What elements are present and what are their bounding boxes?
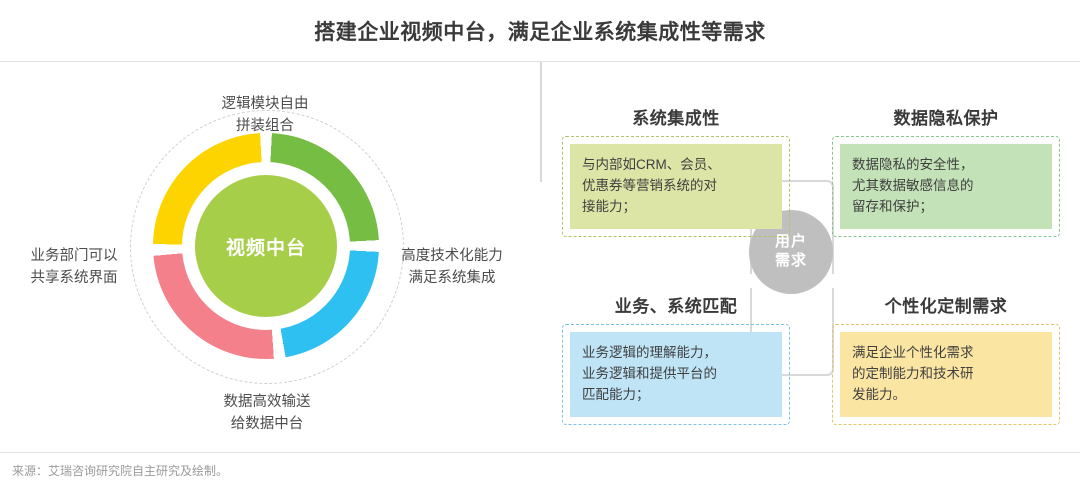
card-privacy-body: 数据隐私的安全性， 尤其数据敏感信息的 留存和保护；	[840, 144, 1052, 229]
requirements-panel: 用户 需求 系统集成性 与内部如CRM、会员、 优惠券等营销系统的对 接能力； …	[540, 62, 1080, 452]
donut-core-label: 视频中台	[226, 233, 306, 260]
card-business-match[interactable]: 业务、系统匹配 业务逻辑的理解能力， 业务逻辑和提供平台的 匹配能力；	[562, 292, 790, 425]
card-privacy-frame: 数据隐私的安全性， 尤其数据敏感信息的 留存和保护；	[832, 136, 1060, 237]
donut-chart: 视频中台	[153, 133, 379, 359]
card-customization-title: 个性化定制需求	[832, 292, 1060, 317]
donut-core: 视频中台	[195, 175, 337, 317]
card-integration-body: 与内部如CRM、会员、 优惠券等营销系统的对 接能力；	[570, 144, 782, 229]
ring-label-left: 业务部门可以 共享系统界面	[0, 246, 148, 290]
card-integration[interactable]: 系统集成性 与内部如CRM、会员、 优惠券等营销系统的对 接能力；	[562, 104, 790, 237]
card-integration-frame: 与内部如CRM、会员、 优惠券等营销系统的对 接能力；	[562, 136, 790, 237]
card-business-match-frame: 业务逻辑的理解能力， 业务逻辑和提供平台的 匹配能力；	[562, 324, 790, 425]
card-privacy[interactable]: 数据隐私保护 数据隐私的安全性， 尤其数据敏感信息的 留存和保护；	[832, 104, 1060, 237]
footer-divider	[0, 452, 1080, 453]
connector-bottom-right	[790, 288, 834, 376]
card-integration-title: 系统集成性	[562, 104, 790, 129]
donut-diagram: 视频中台 逻辑模块自由 拼装组合 高度技术化能力 满足系统集成 数据高效输送 给…	[0, 62, 540, 452]
ring-label-top: 逻辑模块自由 拼装组合	[170, 94, 360, 138]
card-customization-frame: 满足企业个性化需求 的定制能力和技术研 发能力。	[832, 324, 1060, 425]
card-privacy-title: 数据隐私保护	[832, 104, 1060, 129]
ring-label-right: 高度技术化能力 满足系统集成	[372, 246, 532, 290]
connector-stem-top	[540, 62, 542, 122]
card-customization-body: 满足企业个性化需求 的定制能力和技术研 发能力。	[840, 332, 1052, 417]
card-business-match-body: 业务逻辑的理解能力， 业务逻辑和提供平台的 匹配能力；	[570, 332, 782, 417]
title-bar: 搭建企业视频中台，满足企业系统集成性等需求	[0, 0, 1080, 62]
hub-label-line2: 需求	[775, 252, 807, 271]
card-business-match-title: 业务、系统匹配	[562, 292, 790, 317]
source-note: 来源：艾瑞咨询研究院自主研究及绘制。	[12, 462, 228, 479]
card-customization[interactable]: 个性化定制需求 满足企业个性化需求 的定制能力和技术研 发能力。	[832, 292, 1060, 425]
page-title: 搭建企业视频中台，满足企业系统集成性等需求	[314, 16, 766, 46]
ring-label-bottom: 数据高效输送 给数据中台	[172, 392, 362, 436]
connector-stem-bottom	[540, 122, 542, 182]
